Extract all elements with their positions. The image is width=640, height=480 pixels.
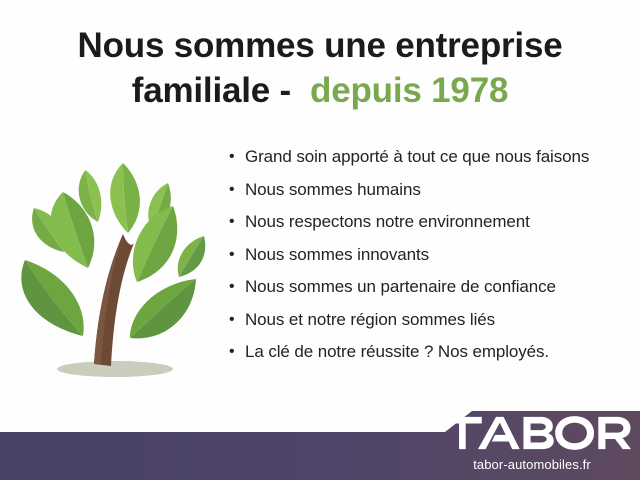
footer-bar-shape [0,411,640,480]
list-item: • Nous respectons notre environnement [229,210,629,243]
bullet-marker-icon: • [229,178,245,202]
list-item: • Nous sommes humains [229,178,629,211]
bullet-marker-icon: • [229,243,245,267]
page-title-line-2-main: familiale - [132,71,310,110]
leaf-mid-right-large [133,206,177,282]
leaf-right-small [178,236,206,277]
list-item-label: Nous sommes humains [245,178,421,202]
leaf-bottom-left-large [21,260,83,336]
page-title-line-2: familiale - depuis 1978 [0,69,640,114]
list-item: • Nous et notre région sommes liés [229,308,629,341]
list-item: • Nous sommes un partenaire de confiance [229,275,629,308]
footer-bar [0,405,640,480]
ground-shadow-shape [57,361,173,377]
list-item: • Nous sommes innovants [229,243,629,276]
list-item-label: Nous respectons notre environnement [245,210,530,234]
benefits-list: • Grand soin apporté à tout ce que nous … [229,145,629,373]
list-item: • La clé de notre réussite ? Nos employé… [229,340,629,373]
page-title-accent: depuis 1978 [310,71,508,110]
leaf-top-center [110,163,140,233]
slide-canvas: Nous sommes une entreprise familiale - d… [0,0,640,480]
bullet-marker-icon: • [229,340,245,364]
leaf-bottom-right-large [130,279,196,338]
bullet-marker-icon: • [229,210,245,234]
list-item-label: Nous sommes un partenaire de confiance [245,275,556,299]
bullet-marker-icon: • [229,145,245,169]
page-title-line-1: Nous sommes une entreprise [0,24,640,69]
tree-illustration [10,150,225,390]
page-title: Nous sommes une entreprise familiale - d… [0,24,640,114]
list-item-label: La clé de notre réussite ? Nos employés. [245,340,549,364]
list-item-label: Nous et notre région sommes liés [245,308,495,332]
list-item-label: Nous sommes innovants [245,243,429,267]
list-item-label: Grand soin apporté à tout ce que nous fa… [245,145,589,169]
bullet-marker-icon: • [229,308,245,332]
bullet-marker-icon: • [229,275,245,299]
list-item: • Grand soin apporté à tout ce que nous … [229,145,629,178]
